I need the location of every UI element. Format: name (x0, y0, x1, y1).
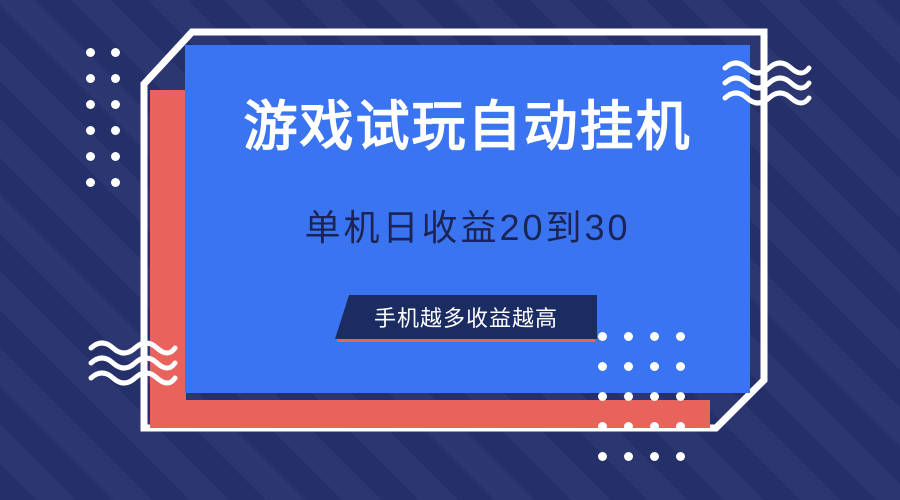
banner-tagline: 手机越多收益越高 (335, 295, 597, 339)
tagline-text: 手机越多收益越高 (335, 295, 597, 339)
dot (650, 332, 659, 341)
banner-subtitle: 单机日收益20到30 (185, 210, 750, 246)
dot (598, 422, 607, 431)
dot (86, 100, 95, 109)
dot (624, 452, 633, 461)
dot (86, 126, 95, 135)
dot (86, 178, 95, 187)
dot (624, 362, 633, 371)
dot (111, 126, 120, 135)
dot (111, 74, 120, 83)
dot (624, 332, 633, 341)
dot (676, 422, 685, 431)
dot (598, 362, 607, 371)
dot (676, 452, 685, 461)
dot (598, 392, 607, 401)
dot (676, 392, 685, 401)
dot (111, 100, 120, 109)
dot (598, 332, 607, 341)
dot (624, 392, 633, 401)
dot (86, 74, 95, 83)
dot (111, 48, 120, 57)
promo-banner: 游戏试玩自动挂机 单机日收益20到30 手机越多收益越高 (0, 0, 900, 500)
dot (676, 332, 685, 341)
dot (111, 152, 120, 161)
blue-content-panel: 游戏试玩自动挂机 单机日收益20到30 手机越多收益越高 (185, 45, 750, 393)
dot (598, 452, 607, 461)
wave-lines-icon-bottom-left (88, 340, 178, 391)
dot (676, 362, 685, 371)
dot (650, 422, 659, 431)
dot (650, 452, 659, 461)
tagline-underline (337, 339, 595, 342)
dot (624, 422, 633, 431)
dot (86, 152, 95, 161)
banner-title: 游戏试玩自动挂机 (185, 100, 750, 154)
dot (111, 178, 120, 187)
dot (650, 362, 659, 371)
dot (650, 392, 659, 401)
wave-lines-icon-top-right (722, 60, 812, 111)
dot (86, 48, 95, 57)
